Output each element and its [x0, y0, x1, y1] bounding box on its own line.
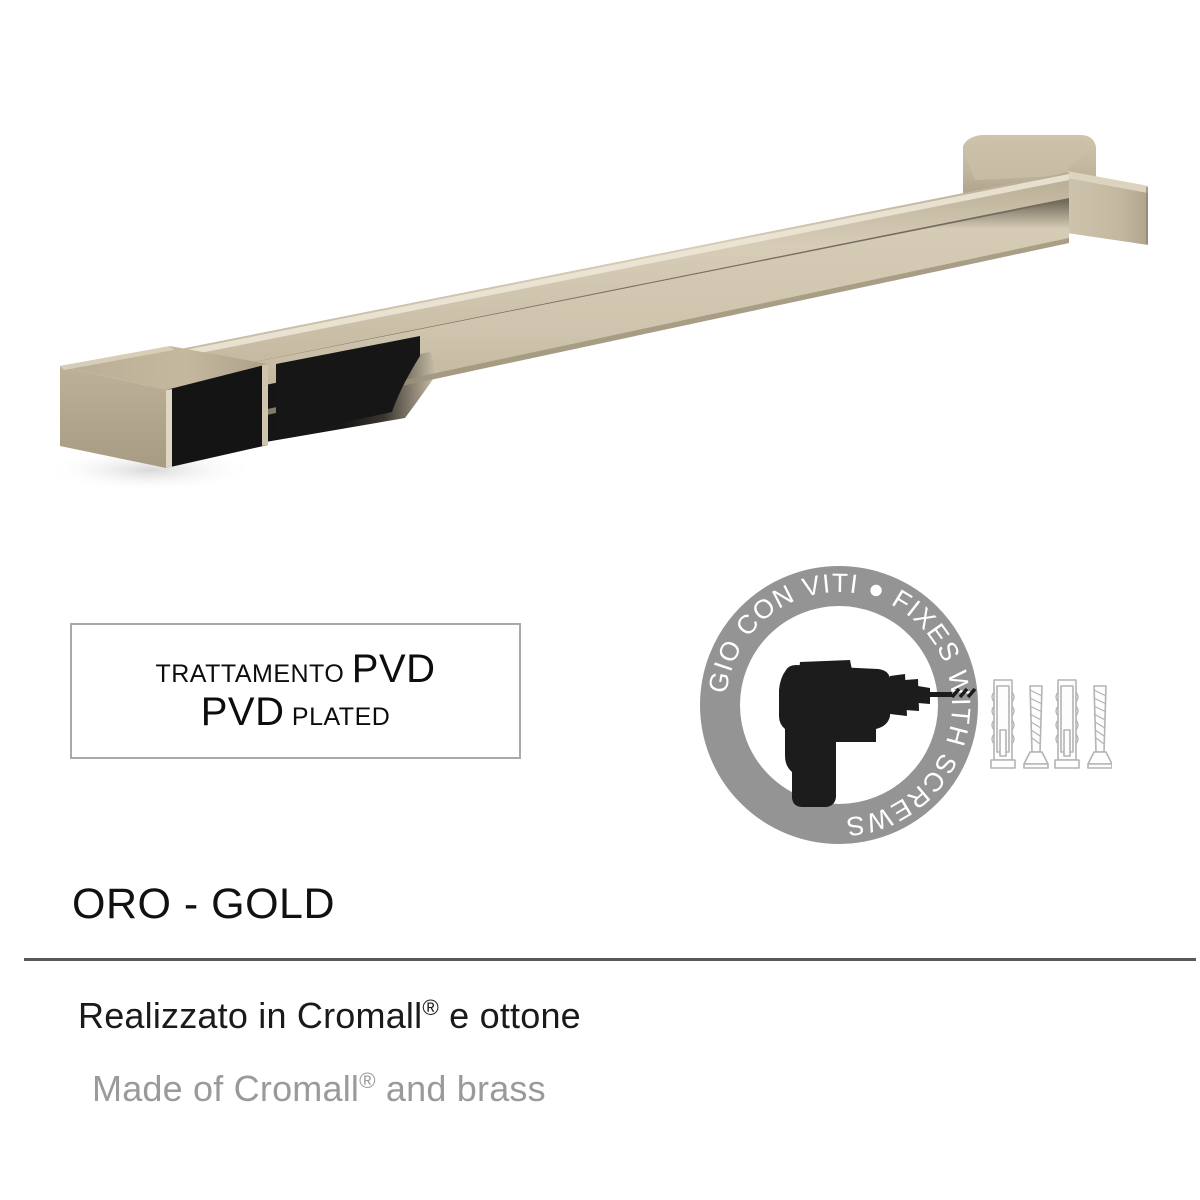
registered-mark-icon: ® — [422, 995, 439, 1020]
pvd-treatment-box: TRATTAMENTO PVD PVD PLATED — [70, 623, 521, 759]
material-english-after: and brass — [376, 1068, 546, 1109]
screw-icon — [1088, 686, 1112, 768]
product-photo — [0, 0, 1200, 560]
divider-rule — [24, 958, 1196, 961]
pvd-italian-emphasis: PVD — [352, 647, 436, 691]
registered-mark-icon: ® — [359, 1068, 376, 1093]
material-italian-after: e ottone — [439, 995, 581, 1036]
material-text-italian: Realizzato in Cromall® e ottone — [78, 995, 581, 1037]
material-text-english: Made of Cromall® and brass — [92, 1068, 546, 1110]
pvd-english-emphasis: PVD — [201, 690, 285, 734]
pvd-italian-prefix: TRATTAMENTO — [155, 660, 351, 688]
screw-icon — [1024, 686, 1048, 768]
fixings-group — [988, 668, 1112, 778]
pvd-english-suffix: PLATED — [284, 703, 390, 731]
wall-anchor-icon — [991, 680, 1015, 768]
finish-name: ORO - GOLD — [72, 880, 335, 929]
material-english-before: Made of Cromall — [92, 1068, 359, 1109]
towel-bar-illustration — [0, 0, 1200, 560]
pvd-line-english: PVD PLATED — [201, 691, 391, 734]
fixing-badge: FISSAGGIO CON VITI ● FIXES WITH SCREWS — [700, 566, 978, 844]
pvd-line-italian: TRATTAMENTO PVD — [155, 648, 435, 691]
material-italian-before: Realizzato in Cromall — [78, 995, 422, 1036]
wall-anchor-icon — [1055, 680, 1079, 768]
